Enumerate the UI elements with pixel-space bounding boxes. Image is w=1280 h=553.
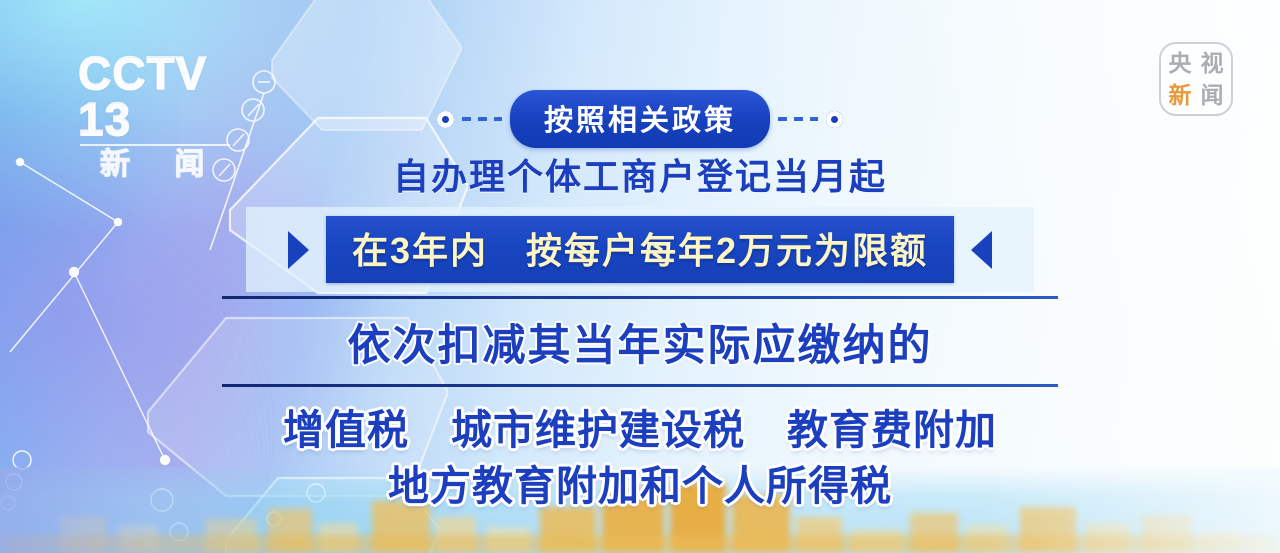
policy-banner-pill: 按照相关政策	[510, 90, 770, 148]
highlight-bar-frame: 在3年内 按每户每年2万元为限额	[246, 207, 1034, 292]
policy-banner-row: 按照相关政策	[0, 90, 1280, 148]
rule-bottom	[222, 384, 1058, 387]
subtitle-line: 自办理个体工商户登记当月起	[0, 148, 1280, 200]
highlight-bar-wrap: 在3年内 按每户每年2万元为限额	[0, 207, 1280, 292]
arrow-left-icon	[971, 231, 992, 269]
banner-dot-right-icon	[826, 111, 843, 128]
ruled-statement-text: 依次扣减其当年实际应缴纳的	[222, 299, 1058, 384]
banner-dot-left-icon	[437, 111, 454, 128]
content-layer: 按照相关政策 自办理个体工商户登记当月起 在3年内 按每户每年2万元为限额 依次…	[0, 0, 1280, 553]
arrow-right-icon	[288, 231, 309, 269]
highlight-bar-text: 在3年内 按每户每年2万元为限额	[352, 222, 928, 274]
highlight-bar: 在3年内 按每户每年2万元为限额	[326, 216, 954, 283]
banner-dash-right-icon	[778, 117, 818, 121]
ruled-statement: 依次扣减其当年实际应缴纳的	[222, 296, 1058, 387]
banner-dash-left-icon	[462, 117, 502, 121]
news-graphic-stage: CCTV 13 新 闻 央 视 新 闻 按照相关政策 自办理个体工商户登记当月起…	[0, 0, 1280, 553]
tax-list-line-2: 地方教育附加和个人所得税	[0, 452, 1280, 512]
tax-list-line-1: 增值税 城市维护建设税 教育费附加	[0, 396, 1280, 456]
